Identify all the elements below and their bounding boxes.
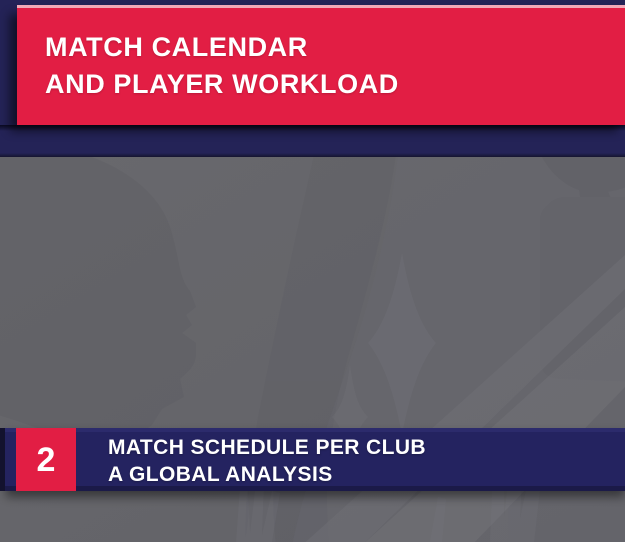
section-number-badge: 2	[16, 428, 76, 491]
page-title: MATCH CALENDAR AND PLAYER WORKLOAD	[45, 29, 399, 103]
slide-header: MATCH CALENDAR AND PLAYER WORKLOAD	[0, 0, 625, 128]
section-banner-left-edge	[0, 428, 5, 491]
section-title: MATCH SCHEDULE PER CLUB A GLOBAL ANALYSI…	[108, 434, 426, 488]
slide: MATCH CALENDAR AND PLAYER WORKLOAD 2 MAT…	[0, 0, 625, 542]
section-banner: 2 MATCH SCHEDULE PER CLUB A GLOBAL ANALY…	[0, 428, 625, 491]
section-number: 2	[37, 443, 56, 477]
